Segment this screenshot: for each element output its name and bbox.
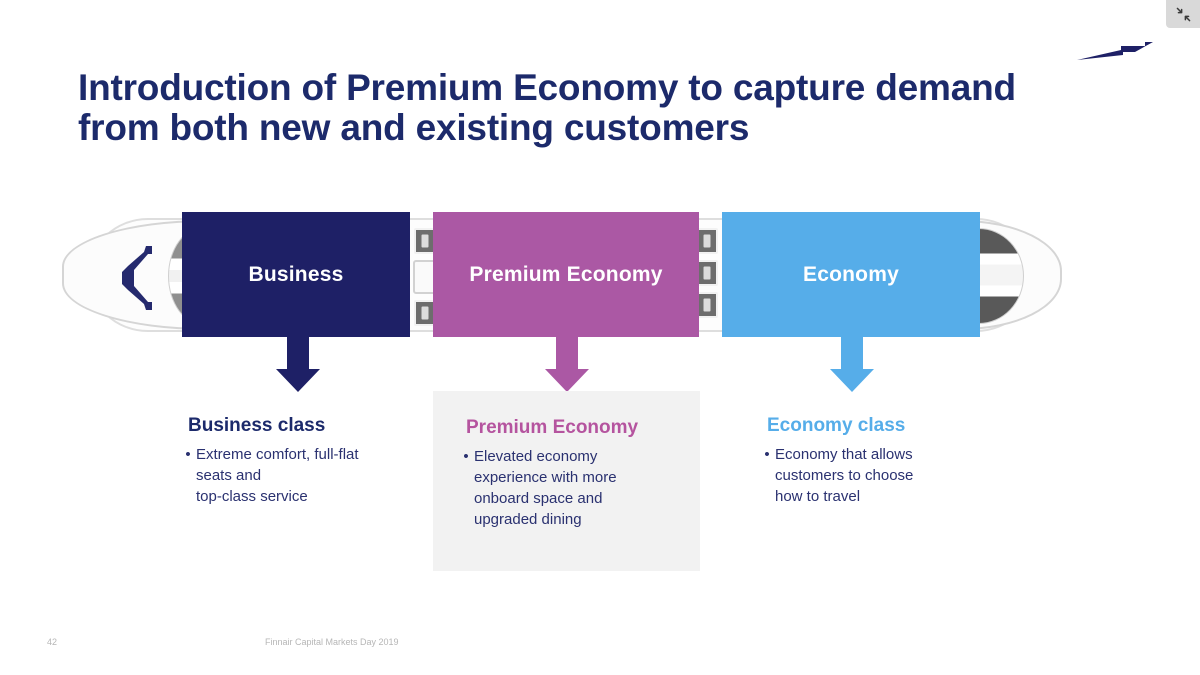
cabin-box-economy[interactable]: Economy [722, 212, 980, 337]
down-arrow-economy-icon [830, 337, 874, 392]
detail-bullet-text-business: Extreme comfort, full-flat seats and top… [196, 444, 359, 507]
down-arrow-business-icon [276, 337, 320, 392]
down-arrow-premium-economy-icon [545, 337, 589, 392]
cabin-box-premium-economy-label: Premium Economy [469, 263, 662, 287]
slide-canvas: Introduction of Premium Economy to captu… [0, 0, 1200, 675]
detail-heading-premium-economy: Premium Economy [466, 417, 688, 439]
cabin-box-business-label: Business [249, 263, 344, 287]
collapse-arrows-glyph [1176, 7, 1191, 22]
detail-heading-economy: Economy class [767, 415, 1009, 437]
detail-bullet-text-economy: Economy that allows customers to choose … [775, 444, 913, 507]
footer-page-number: 42 [47, 637, 57, 647]
collapse-diagonal-arrows-icon[interactable] [1166, 0, 1200, 28]
bullet-marker-icon: • [759, 444, 775, 465]
finnair-logo-glyph [1075, 38, 1155, 66]
detail-bullet-economy: • Economy that allows customers to choos… [759, 444, 1009, 507]
page-title-line1: Introduction of Premium Economy to captu… [78, 67, 1016, 108]
cockpit-seats-icon [92, 240, 178, 316]
detail-bullet-business: • Extreme comfort, full-flat seats and t… [180, 444, 452, 507]
bullet-marker-icon: • [458, 446, 474, 467]
page-title: Introduction of Premium Economy to captu… [78, 68, 1098, 148]
cabin-box-business[interactable]: Business [182, 212, 410, 337]
page-title-line2: from both new and existing customers [78, 108, 1098, 148]
detail-panel-premium-economy: Premium Economy • Elevated economy exper… [433, 391, 700, 571]
finnair-logo [1075, 38, 1155, 66]
footer-deck-name: Finnair Capital Markets Day 2019 [265, 637, 399, 647]
detail-heading-business: Business class [188, 415, 452, 437]
cabin-box-premium-economy[interactable]: Premium Economy [433, 212, 699, 337]
bullet-marker-icon: • [180, 444, 196, 465]
cabin-box-economy-label: Economy [803, 263, 899, 287]
detail-bullet-premium-economy: • Elevated economy experience with more … [458, 446, 688, 530]
detail-bullet-text-premium-economy: Elevated economy experience with more on… [474, 446, 617, 530]
